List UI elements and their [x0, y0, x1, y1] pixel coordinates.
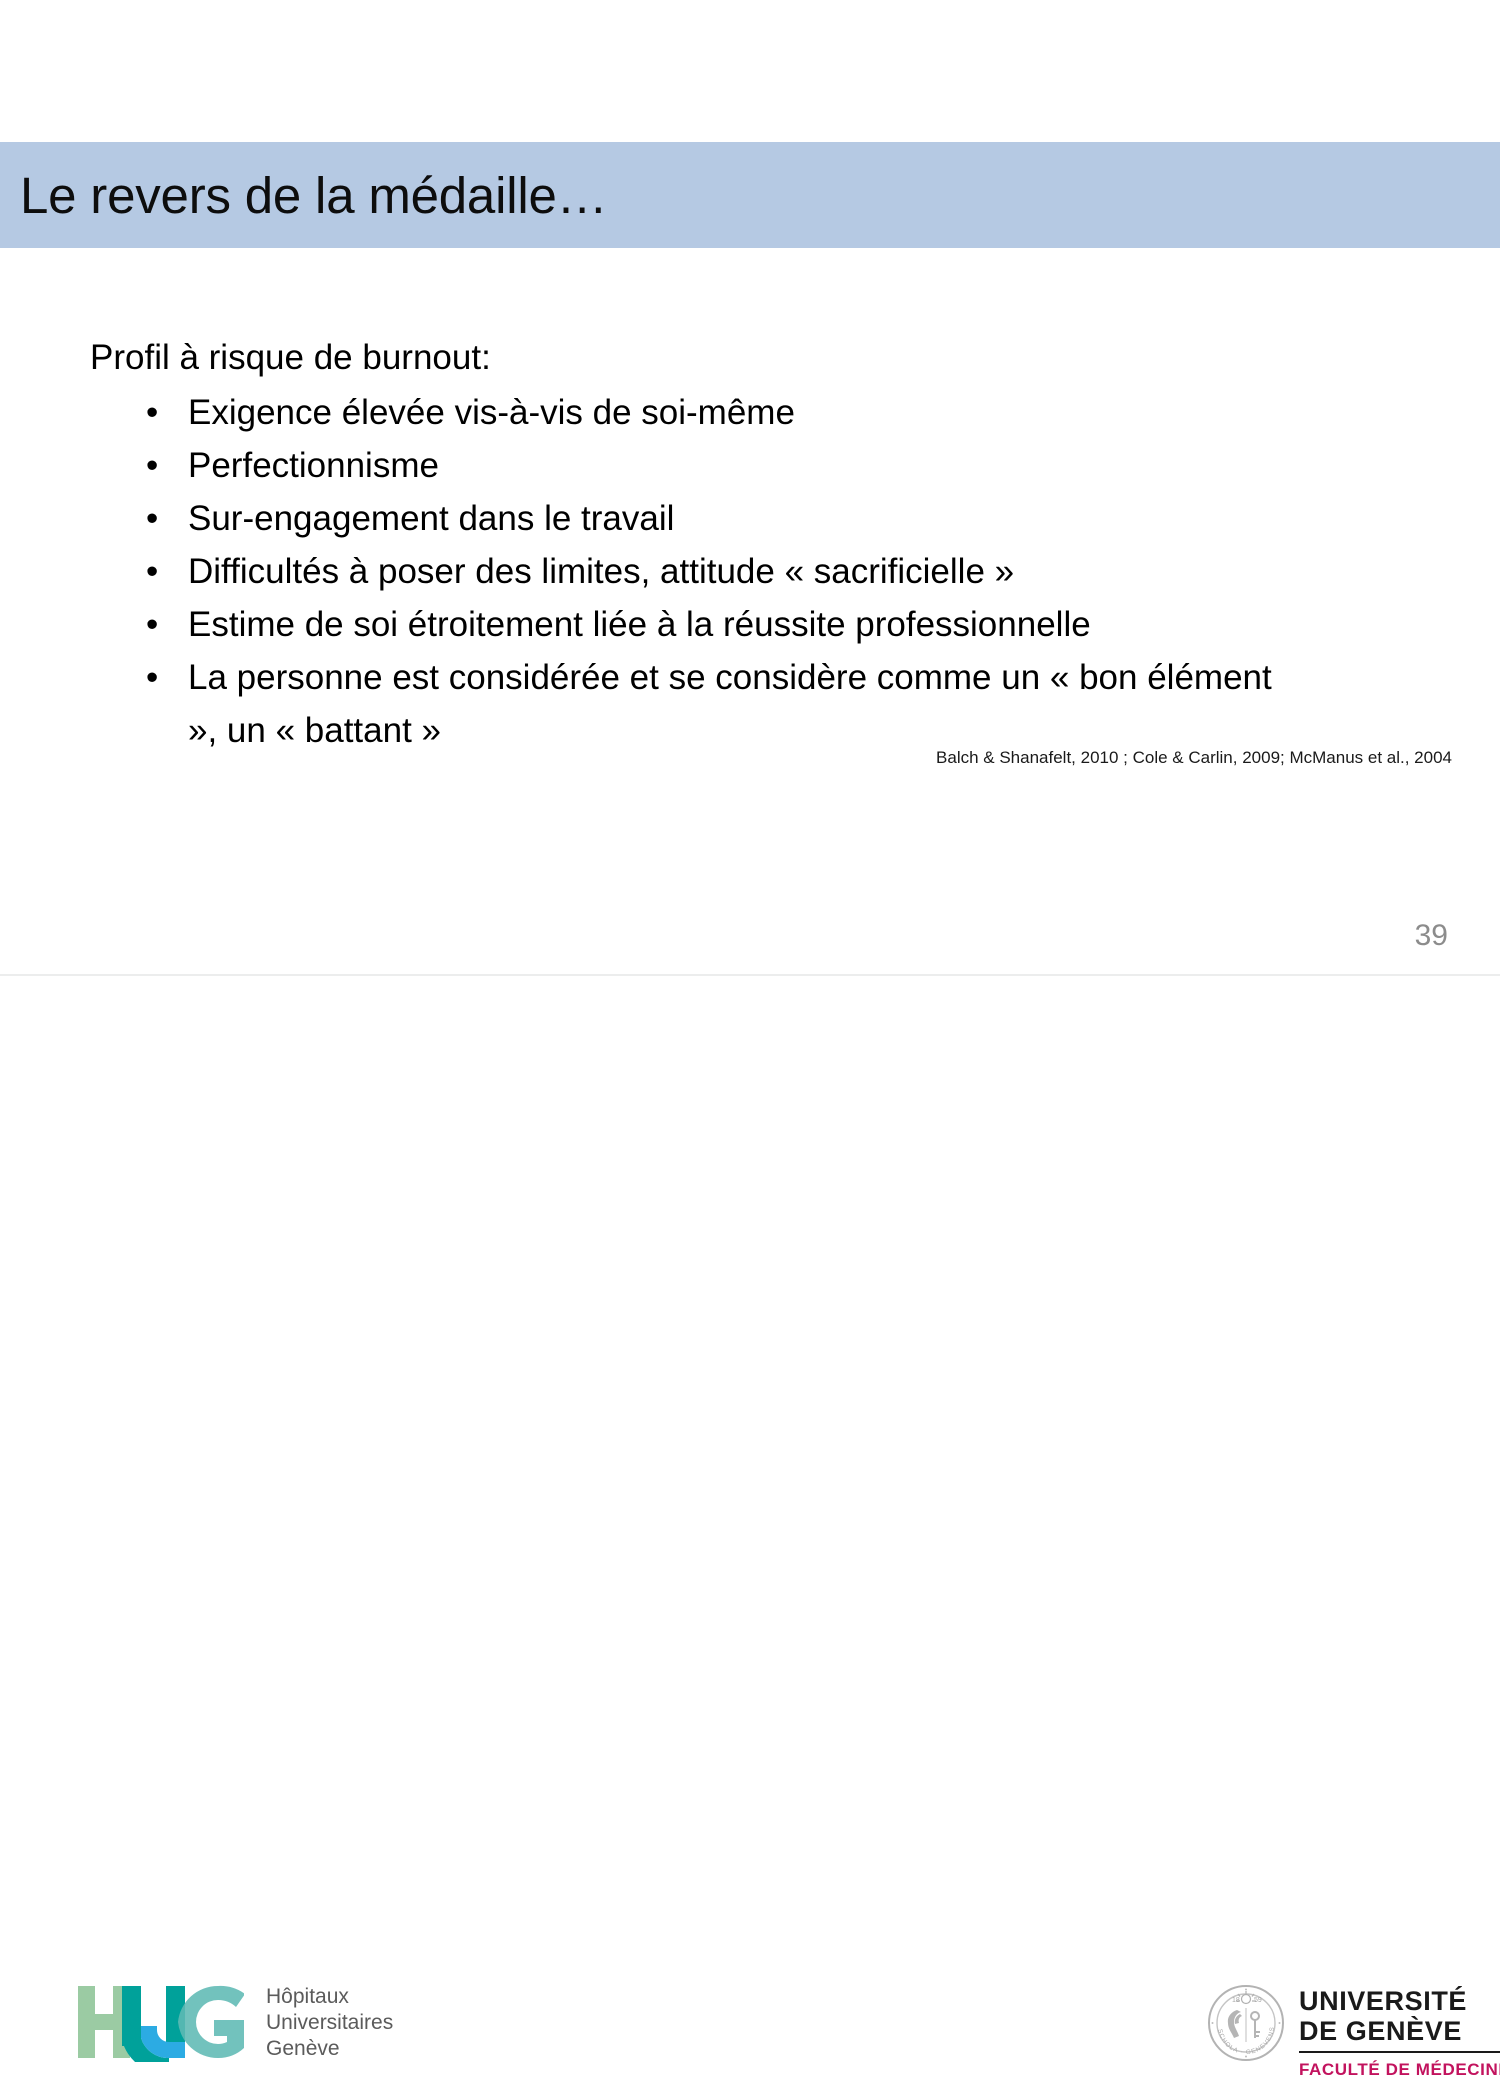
unige-name-line-2: DE GENÈVE: [1299, 2016, 1500, 2046]
list-item-label: Exigence élevée vis-à-vis de soi-même: [188, 393, 795, 432]
list-item: • Sur-engagement dans le travail: [90, 492, 1390, 545]
bullet-icon: •: [146, 598, 158, 651]
bullet-list: • Exigence élevée vis-à-vis de soi-même …: [90, 386, 1390, 757]
hug-line-3: Genève: [266, 2036, 393, 2062]
hug-line-1: Hôpitaux: [266, 1984, 393, 2010]
unige-seal-icon: 18 59: [1207, 1984, 1285, 2062]
svg-text:59: 59: [1254, 1997, 1262, 2004]
hug-line-2: Universitaires: [266, 2010, 393, 2036]
list-item: • Difficultés à poser des limites, attit…: [90, 545, 1390, 598]
list-item-label: Perfectionnisme: [188, 446, 439, 485]
list-item-label: Estime de soi étroitement liée à la réus…: [188, 605, 1091, 644]
bullet-icon: •: [146, 439, 158, 492]
list-item-label: Difficultés à poser des limites, attitud…: [188, 552, 1014, 591]
page-number: 39: [1415, 918, 1448, 954]
title-banner: Le revers de la médaille…: [0, 142, 1500, 248]
bullet-icon: •: [146, 651, 158, 704]
unige-divider: [1299, 2051, 1500, 2053]
list-item: • La personne est considérée et se consi…: [90, 651, 1390, 757]
hug-wordmark: Hôpitaux Universitaires Genève: [266, 1984, 393, 2062]
hug-logomark-icon: [78, 1982, 244, 2062]
unige-name-line-1: UNIVERSITÉ: [1299, 1986, 1500, 2016]
content-body: Profil à risque de burnout: • Exigence é…: [90, 332, 1390, 757]
list-item-label: La personne est considérée et se considè…: [188, 651, 1273, 757]
unige-logo: 18 59: [1207, 1984, 1500, 2080]
list-item: • Perfectionnisme: [90, 439, 1390, 492]
slide: Le revers de la médaille… Profil à risqu…: [0, 0, 1500, 1125]
list-item: • Exigence élevée vis-à-vis de soi-même: [90, 386, 1390, 439]
unige-wordmark: UNIVERSITÉ DE GENÈVE FACULTÉ DE MÉDECINE: [1299, 1986, 1500, 2080]
list-item-label: Sur-engagement dans le travail: [188, 499, 674, 538]
hug-logo: Hôpitaux Universitaires Genève: [78, 1982, 393, 2062]
lead-text: Profil à risque de burnout:: [90, 332, 1390, 384]
bullet-icon: •: [146, 545, 158, 598]
unige-faculty-label: FACULTÉ DE MÉDECINE: [1299, 2060, 1500, 2080]
list-item: • Estime de soi étroitement liée à la ré…: [90, 598, 1390, 651]
bullet-icon: •: [146, 492, 158, 545]
svg-text:18: 18: [1232, 1997, 1240, 2004]
citation-text: Balch & Shanafelt, 2010 ; Cole & Carlin,…: [0, 746, 1452, 770]
bullet-icon: •: [146, 386, 158, 439]
footer: Hôpitaux Universitaires Genève: [0, 976, 1500, 1125]
page-title: Le revers de la médaille…: [0, 170, 607, 221]
